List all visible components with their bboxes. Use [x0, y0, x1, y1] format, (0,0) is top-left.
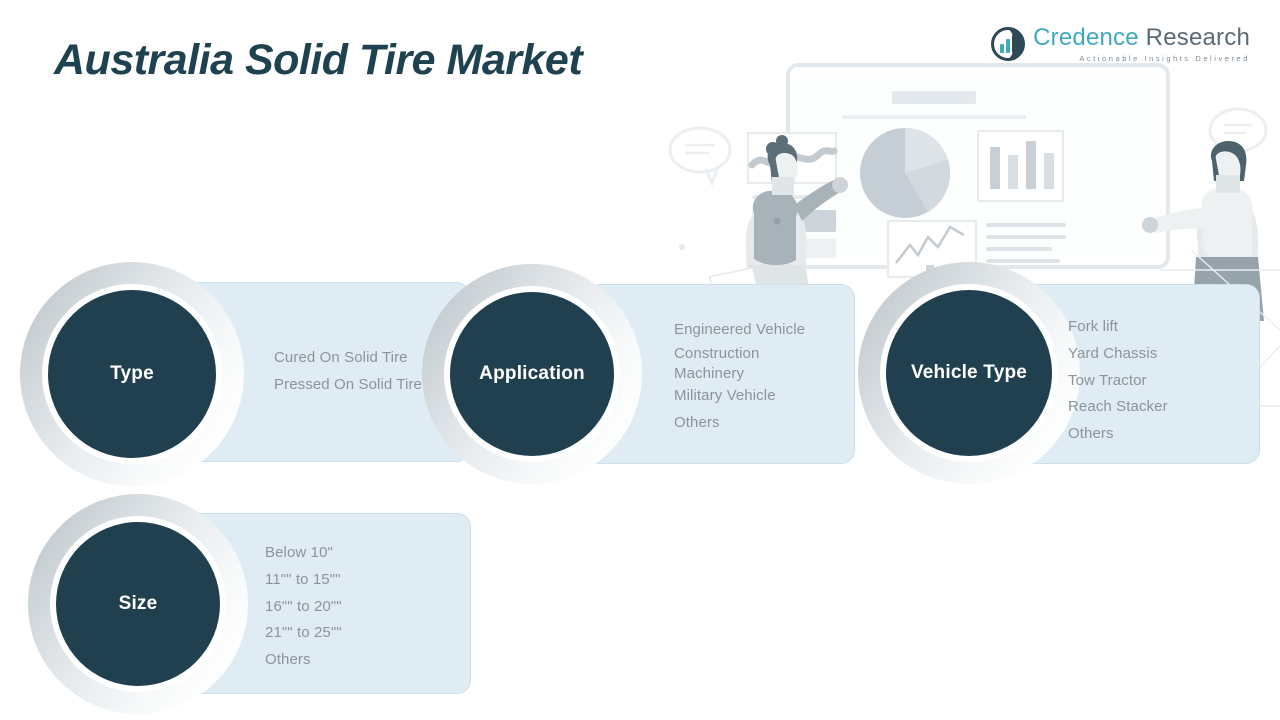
disc-size[interactable]: Size [56, 522, 220, 686]
bubble-type[interactable]: Type [20, 262, 244, 486]
disc-vehicle-type[interactable]: Vehicle Type [886, 290, 1052, 456]
list-item: 21"" to 25"" [265, 620, 465, 647]
list-item: 11"" to 15"" [265, 567, 465, 594]
list-item: 16"" to 20"" [265, 594, 465, 621]
disc-label: Vehicle Type [911, 362, 1027, 384]
logo-name-research: Research [1146, 24, 1250, 51]
list-item: Tow Tractor [1068, 368, 1268, 395]
panel-items-size: Below 10" 11"" to 15"" 16"" to 20"" 21""… [265, 540, 465, 674]
bubble-vehicle-type[interactable]: Vehicle Type [858, 262, 1080, 484]
logo-tagline: Actionable Insights Delivered [1033, 55, 1250, 63]
list-item: Engineered Vehicle [674, 317, 864, 344]
list-item: Military Vehicle [674, 383, 864, 410]
disc-type[interactable]: Type [48, 290, 216, 458]
list-item: Others [1068, 421, 1268, 448]
disc-label: Size [119, 593, 158, 615]
list-item: Construction Machinery [674, 344, 864, 384]
bar-chart-circle-icon [991, 27, 1025, 61]
bubble-size[interactable]: Size [28, 494, 248, 714]
bubble-application[interactable]: Application [422, 264, 642, 484]
list-item: Reach Stacker [1068, 394, 1268, 421]
list-item: Others [265, 647, 465, 674]
panel-items-application: Engineered Vehicle Construction Machiner… [674, 314, 864, 440]
list-item: Yard Chassis [1068, 341, 1268, 368]
slide-root: Australia Solid Tire Market Credence Res… [0, 0, 1280, 720]
disc-label: Type [110, 363, 154, 385]
brand-logo[interactable]: Credence Research Actionable Insights De… [991, 26, 1250, 63]
disc-label: Application [479, 363, 585, 385]
list-item: Others [674, 410, 864, 437]
logo-name-credence: Credence [1033, 24, 1139, 51]
list-item: Below 10" [265, 540, 465, 567]
page-title: Australia Solid Tire Market [54, 36, 582, 85]
disc-application[interactable]: Application [450, 292, 614, 456]
list-item: Fork lift [1068, 314, 1268, 341]
panel-items-vehicle-type: Fork lift Yard Chassis Tow Tractor Reach… [1068, 314, 1268, 448]
logo-title: Credence Research [1033, 26, 1250, 50]
